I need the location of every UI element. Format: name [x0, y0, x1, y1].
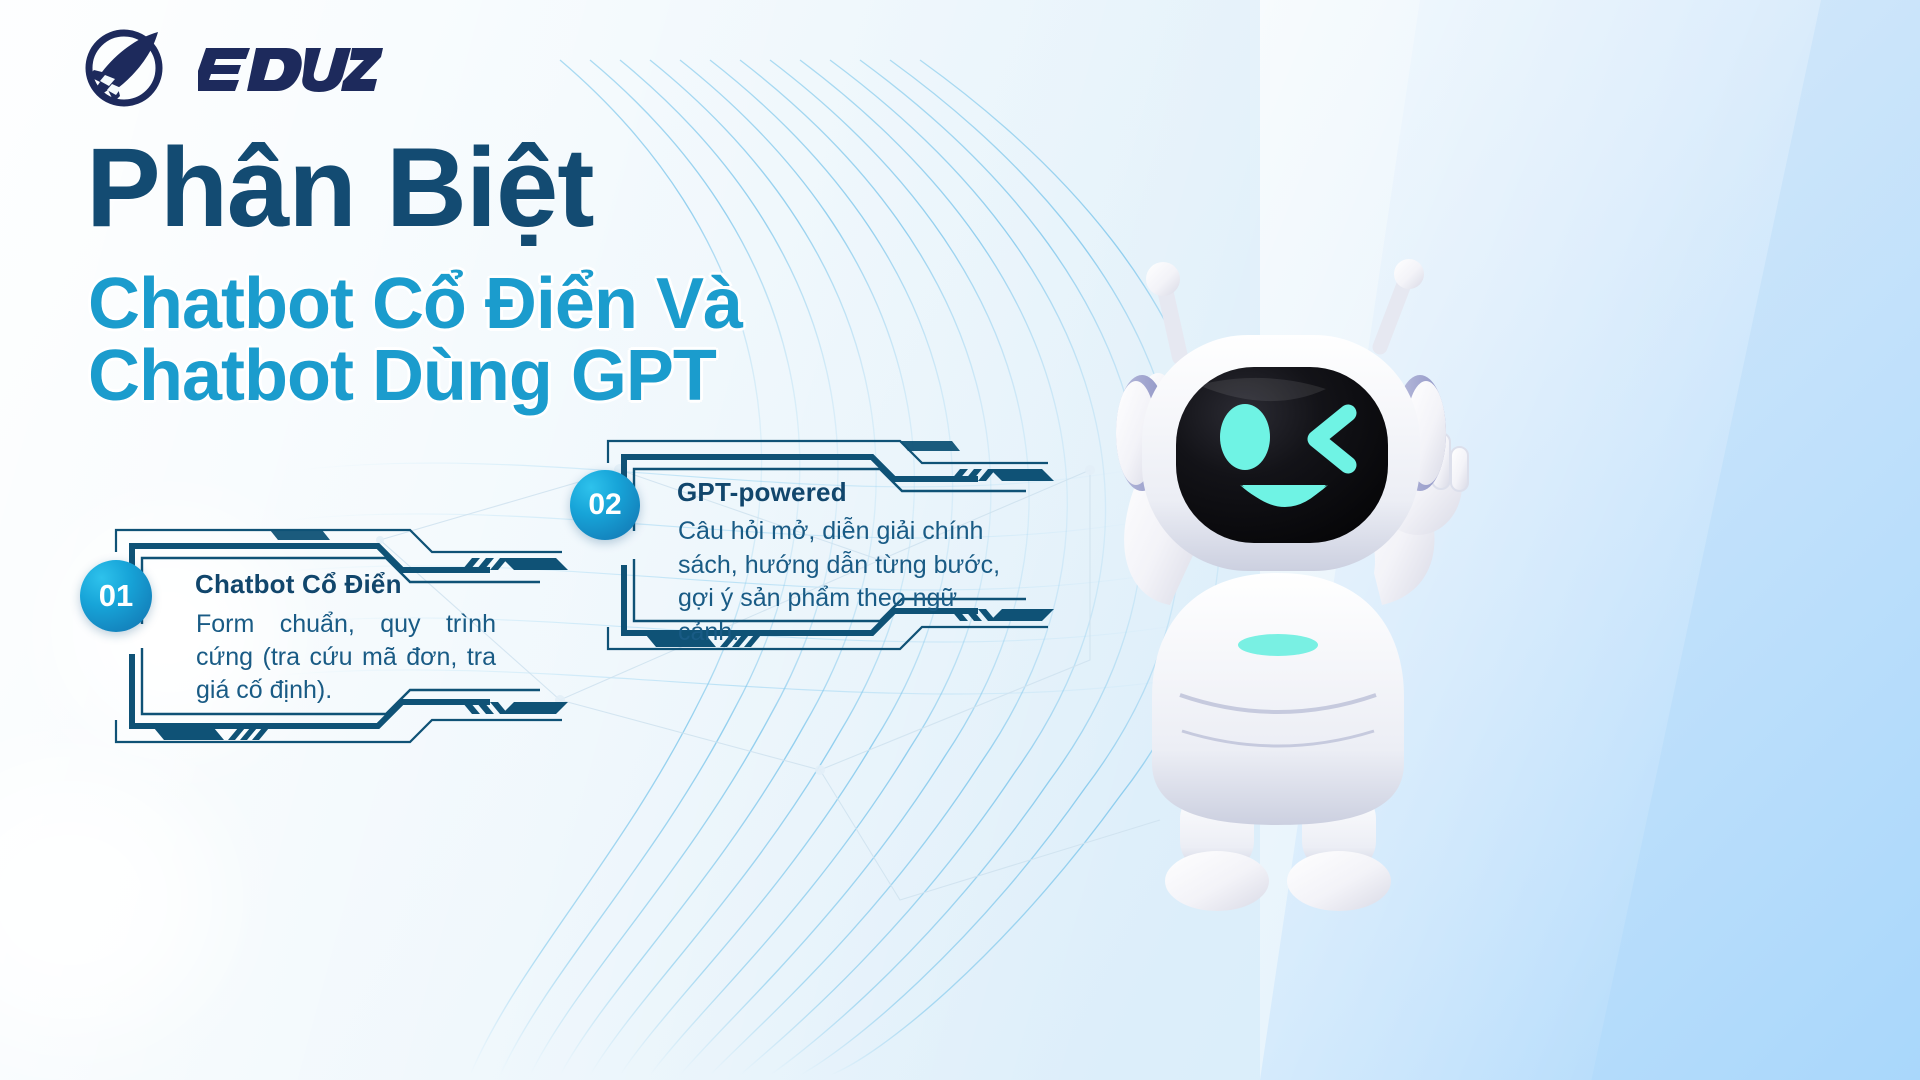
poster-canvas: Phân Biệt Chatbot Cổ Điển Và Chatbot Dùn…	[0, 0, 1920, 1080]
robot-mascot-icon	[1030, 175, 1550, 935]
rocket-in-circle-icon	[72, 26, 192, 110]
info-card-02[interactable]: 02 GPT-powered Câu hỏi mở, diễn giải chí…	[600, 425, 1055, 665]
page-subtitle-line-2: Chatbot Dùng GPT	[88, 340, 716, 412]
card-body-text: Form chuẩn, quy trình cứng (tra cứu mã đ…	[196, 608, 496, 707]
page-title: Phân Biệt	[86, 132, 594, 244]
page-subtitle-line-1: Chatbot Cổ Điển Và	[88, 268, 742, 340]
card-number-badge: 02	[570, 470, 640, 540]
card-number-badge: 01	[80, 560, 152, 632]
robot-mascot	[1030, 175, 1550, 935]
brand-logo[interactable]	[72, 26, 383, 110]
card-title: GPT-powered	[677, 477, 847, 508]
info-card-01[interactable]: 01 Chatbot Cổ Điển Form chuẩn, quy trình…	[110, 512, 570, 760]
card-body-text: Câu hỏi mở, diễn giải chính sách, hướng …	[678, 515, 1008, 649]
eduz-wordmark-icon	[198, 40, 383, 96]
card-title: Chatbot Cổ Điển	[195, 569, 402, 600]
